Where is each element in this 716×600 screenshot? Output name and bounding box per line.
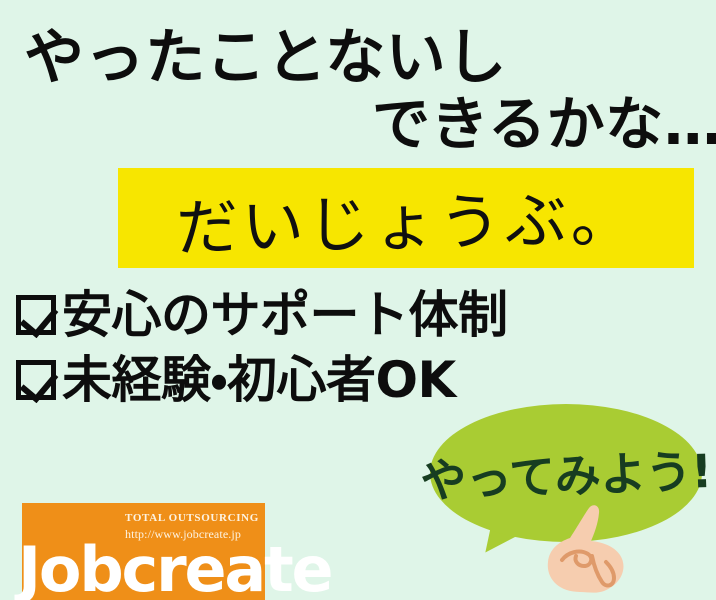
headline-line-1: やったことないし: [24, 28, 507, 88]
poster-canvas: やったことないし できるかな… だいじょうぶ。 安心のサポート体制 未経験・初心…: [0, 0, 716, 600]
checked-box-icon: [16, 295, 56, 335]
highlight-banner-text: だいじょうぶ。: [117, 162, 695, 274]
highlight-banner: だいじょうぶ。: [118, 168, 694, 268]
logo-wordmark: Jobcreate: [18, 539, 308, 600]
thumbs-up-hand-icon: [536, 504, 632, 596]
checklist-item-label: 安心のサポート体制: [62, 290, 508, 340]
jobcreate-logo: TOTAL OUTSOURCING http://www.jobcreate.j…: [22, 503, 265, 600]
checklist-item-support: 安心のサポート体制: [16, 290, 508, 340]
checklist-item-label: 未経験・初心者OK: [62, 355, 456, 405]
checklist-item-beginner: 未経験・初心者OK: [16, 355, 456, 405]
headline-line-2: できるかな…: [372, 95, 716, 153]
logo-tagline: TOTAL OUTSOURCING: [125, 511, 259, 526]
checked-box-icon: [16, 360, 56, 400]
